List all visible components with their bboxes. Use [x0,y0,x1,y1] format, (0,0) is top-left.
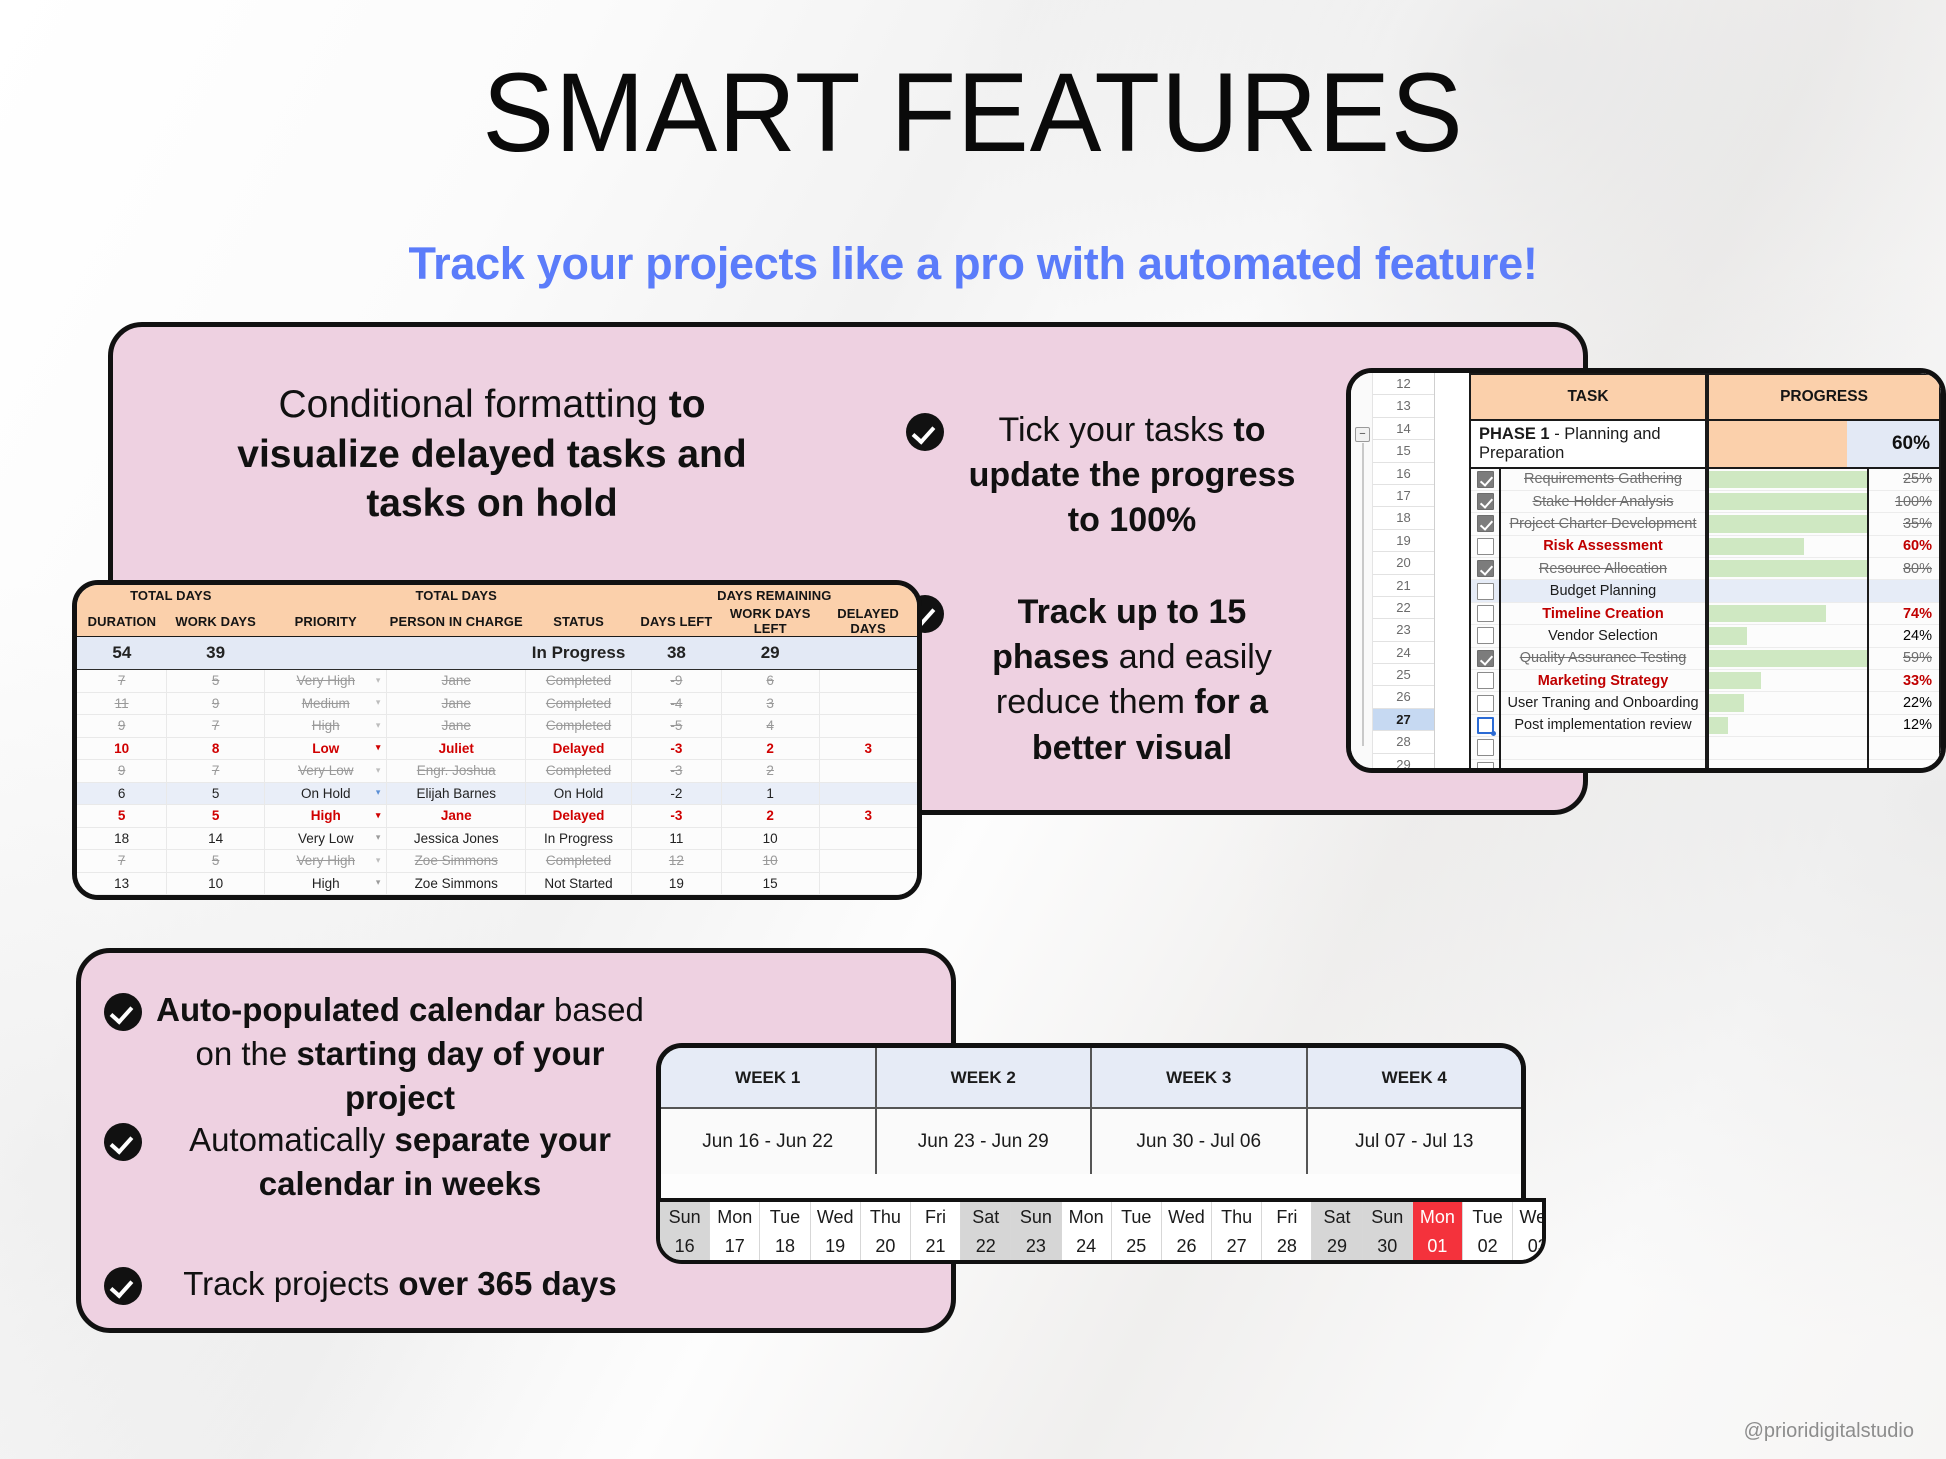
cell-priority[interactable]: On Hold [265,782,387,805]
table-row[interactable]: 97Very LowEngr. JoshuaCompleted-32 [77,760,917,783]
row-number[interactable]: 24 [1373,642,1434,664]
calendar-day[interactable]: Mon17 [710,1202,760,1260]
row-number[interactable]: 27 [1373,709,1434,731]
spacer-column [1435,373,1469,768]
cell-days-left[interactable]: 23 [632,895,722,901]
day-number: 01 [1413,1232,1462,1260]
day-number: 28 [1262,1232,1311,1260]
cell-days-left[interactable]: -3 [632,805,722,828]
task-progress-value[interactable]: 35% [1868,513,1940,535]
task-name[interactable]: Vendor Selection [1501,628,1705,644]
task-progress-value[interactable]: 60% [1868,535,1940,557]
table-row[interactable]: 65On HoldElijah BarnesOn Hold-21 [77,782,917,805]
row-number[interactable]: 22 [1373,597,1434,619]
column-header-cell[interactable]: PERSON IN CHARGE [387,606,526,637]
phase-progress-value: 60% [1892,433,1930,455]
cell-status[interactable]: Not Started [526,872,632,895]
row-number[interactable]: 12 [1373,373,1434,395]
conditional-formatting-text: Conditional formatting to visualize dela… [232,380,752,529]
task-name[interactable]: Project Charter Development [1501,516,1705,532]
task-progress-value[interactable]: 59% [1868,647,1940,669]
task-row[interactable]: User Traning and Onboarding22% [1470,692,1940,714]
cell-priority[interactable]: Very High [265,850,387,873]
task-row[interactable]: Risk Assessment60% [1470,535,1940,557]
task-row[interactable]: Post implementation review12% [1470,714,1940,736]
checkbox-icon[interactable] [1477,627,1494,644]
cell-delayed-days[interactable] [819,827,917,850]
task-duration-spreadsheet[interactable]: TOTAL DAYSTOTAL DAYSDAYS REMAININGDURATI… [72,580,922,900]
cell-delayed-days[interactable] [819,760,917,783]
group-header-cell: TOTAL DAYS [77,585,265,606]
table-row[interactable]: 97HighJaneCompleted-54 [77,715,917,738]
task-name[interactable]: Stake Holder Analysis [1501,494,1705,510]
task-row[interactable]: Stake Holder Analysis100% [1470,490,1940,512]
task-name[interactable]: Resource Allocation [1501,561,1705,577]
calendar-day[interactable]: Fri21 [911,1202,961,1260]
task-checkbox-cell[interactable] [1470,580,1500,602]
task-checkbox-cell[interactable] [1470,647,1500,669]
task-checkbox-cell[interactable] [1470,468,1500,490]
cell-work-days[interactable]: 7 [167,760,265,783]
cell-person[interactable]: Jessica Jones [387,895,526,901]
task-checkbox-cell[interactable] [1470,602,1500,624]
cell-status[interactable]: Not Started [526,895,632,901]
day-name: Tue [1463,1202,1512,1232]
cell-duration[interactable]: 7 [77,670,167,693]
row-number[interactable]: 25 [1373,664,1434,686]
cell-delayed-days[interactable] [819,670,917,693]
day-number: 25 [1112,1232,1161,1260]
cell-person[interactable]: Jessica Jones [387,827,526,850]
calendar-day[interactable]: Tue25 [1112,1202,1162,1260]
task-progress-bar [1709,715,1867,736]
summary-cell: 39 [167,637,265,670]
cell-priority[interactable]: High [265,872,387,895]
phase-label: PHASE 1 - Planning and Preparation [1471,425,1705,463]
cell-delayed-days[interactable] [819,782,917,805]
task-row[interactable]: Project Charter Development35% [1470,513,1940,535]
cell-priority[interactable]: Very Low [265,760,387,783]
check-circle-icon [906,413,944,451]
cell-days-left[interactable]: -5 [632,715,722,738]
cell-duration[interactable]: 9 [77,715,167,738]
task-name[interactable]: Budget Planning [1501,583,1705,599]
column-header-cell[interactable]: PRIORITY [265,606,387,637]
day-name: Thu [1212,1202,1261,1232]
checkbox-icon[interactable] [1477,605,1494,622]
task-row[interactable]: Vendor Selection24% [1470,625,1940,647]
day-number: 23 [1011,1232,1060,1260]
row-number[interactable]: 14 [1373,418,1434,440]
cell-days-left[interactable]: 19 [632,872,722,895]
day-name: Sat [961,1202,1010,1232]
task-row[interactable]: Marketing Strategy33% [1470,670,1940,692]
cell-status[interactable]: Completed [526,850,632,873]
task-progress-value[interactable] [1868,759,1940,773]
table-row[interactable]: 1410MediumJessica JonesNot Started2318 [77,895,917,901]
cell-work-days[interactable]: 5 [167,805,265,828]
cell-status[interactable]: Completed [526,670,632,693]
summary-cell [387,637,526,670]
cell-delayed-days[interactable]: 3 [819,737,917,760]
day-number: 22 [961,1232,1010,1260]
row-number[interactable]: 20 [1373,552,1434,574]
checkbox-icon[interactable] [1477,538,1494,555]
week-header: WEEK 3 [1092,1048,1308,1107]
task-row[interactable]: Timeline Creation74% [1470,602,1940,624]
phase-row[interactable]: PHASE 1 - Planning and Preparation60% [1470,420,1940,468]
task-row[interactable]: Quality Assurance Testing59% [1470,647,1940,669]
cell-duration[interactable]: 18 [77,827,167,850]
checkbox-icon[interactable] [1477,739,1494,756]
task-row[interactable] [1470,759,1940,773]
week-header: WEEK 2 [877,1048,1093,1107]
column-header-row: DURATIONWORK DAYSPRIORITYPERSON IN CHARG… [77,606,917,637]
cell-duration[interactable]: 6 [77,782,167,805]
cell-duration[interactable]: 14 [77,895,167,901]
cell-status[interactable]: Completed [526,692,632,715]
cell-priority[interactable]: High [265,805,387,828]
day-number: 24 [1062,1232,1111,1260]
day-number: 20 [861,1232,910,1260]
bullet-separate-weeks-label: Automatically separate your calendar in … [142,1118,644,1206]
week-range-row: Jun 16 - Jun 22Jun 23 - Jun 29Jun 30 - J… [661,1109,1521,1174]
cell-work-days[interactable]: 10 [167,872,265,895]
task-row[interactable]: Requirements Gathering25% [1470,468,1940,490]
task-progress-value[interactable]: 12% [1868,714,1940,736]
cell-work-days-left[interactable]: 10 [721,850,819,873]
bullet-tick-tasks: Tick your tasks to update the progress t… [906,408,1306,544]
cell-work-days-left[interactable]: 4 [721,715,819,738]
table-row[interactable]: 1310HighZoe SimmonsNot Started1915 [77,872,917,895]
calendar-day[interactable]: Tue02 [1463,1202,1513,1260]
cell-person[interactable]: Jane [387,805,526,828]
row-number[interactable]: 15 [1373,440,1434,462]
task-checkbox-cell[interactable] [1470,558,1500,580]
group-bracket-line [1362,443,1364,746]
calendar-day[interactable]: Sun16 [660,1202,710,1260]
cell-days-left[interactable]: -9 [632,670,722,693]
cell-priority[interactable]: Medium [265,692,387,715]
summary-row: 5439In Progress3829 [77,637,917,670]
task-progress-value[interactable]: 80% [1868,558,1940,580]
page-subtitle: Track your projects like a pro with auto… [0,238,1946,290]
cell-work-days-left[interactable]: 10 [721,827,819,850]
cell-work-days-left[interactable]: 1 [721,782,819,805]
task-progress-value[interactable]: 25% [1868,468,1940,490]
row-number[interactable]: 28 [1373,731,1434,753]
poster-canvas: SMART FEATURES Track your projects like … [0,0,1946,1459]
cell-status[interactable]: Delayed [526,805,632,828]
checkbox-icon[interactable] [1477,695,1494,712]
cell-duration[interactable]: 13 [77,872,167,895]
task-progress-bar [1709,760,1867,773]
summary-cell: 54 [77,637,167,670]
row-number[interactable]: 13 [1373,395,1434,417]
row-number[interactable]: 18 [1373,507,1434,529]
checkbox-icon[interactable] [1477,762,1494,773]
page-title: SMART FEATURES [39,48,1907,177]
phase-progress-bar: 60% [1709,421,1939,467]
cell-days-left[interactable]: -3 [632,760,722,783]
calendar-day-strip[interactable]: Sun16Mon17Tue18Wed19Thu20Fri21Sat22Sun23… [656,1198,1546,1264]
column-header-cell[interactable]: WORK DAYS LEFT [721,606,819,637]
task-progress-bar [1709,558,1867,579]
summary-cell [265,637,387,670]
summary-cell [819,637,917,670]
cell-status[interactable]: On Hold [526,782,632,805]
cell-work-days-left[interactable]: 2 [721,737,819,760]
cell-work-days-left[interactable]: 6 [721,670,819,693]
cell-status[interactable]: In Progress [526,827,632,850]
cell-delayed-days[interactable] [819,850,917,873]
task-name[interactable]: User Traning and Onboarding [1501,695,1705,711]
task-progress-bar [1709,737,1867,758]
row-number[interactable]: 17 [1373,485,1434,507]
cell-status[interactable]: Completed [526,760,632,783]
bullet-separate-weeks: Automatically separate your calendar in … [104,1118,644,1206]
table-row[interactable]: 75Very HighJaneCompleted-96 [77,670,917,693]
day-name: Fri [1262,1202,1311,1232]
day-number: 18 [760,1232,809,1260]
task-progress-value[interactable]: 22% [1868,692,1940,714]
calendar-day[interactable]: Mon24 [1062,1202,1112,1260]
row-number[interactable]: 23 [1373,619,1434,641]
task-name[interactable]: Requirements Gathering [1501,471,1705,487]
task-row[interactable] [1470,737,1940,759]
week-range: Jul 07 - Jul 13 [1308,1109,1522,1174]
cell-status[interactable]: Completed [526,715,632,738]
progress-table[interactable]: TASKPROGRESSPHASE 1 - Planning and Prepa… [1469,373,1941,773]
task-progress-bar [1709,670,1867,691]
cell-work-days[interactable]: 10 [167,895,265,901]
cell-person[interactable]: Jane [387,715,526,738]
task-checkbox-cell[interactable] [1470,513,1500,535]
cell-work-days-left[interactable]: 18 [721,895,819,901]
task-progress-value[interactable]: 24% [1868,625,1940,647]
calendar-day[interactable]: Sun30 [1363,1202,1413,1260]
cell-person[interactable]: Engr. Joshua [387,760,526,783]
check-circle-icon [104,1123,142,1161]
day-number: 21 [911,1232,960,1260]
table-row[interactable]: 108LowJulietDelayed-323 [77,737,917,760]
cell-work-days[interactable]: 5 [167,850,265,873]
task-progress-bar [1709,603,1867,624]
summary-cell: 29 [721,637,819,670]
week-range: Jun 23 - Jun 29 [877,1109,1093,1174]
cell-work-days[interactable]: 14 [167,827,265,850]
cell-work-days-left[interactable]: 3 [721,692,819,715]
day-name: Wed [1513,1202,1546,1232]
header-task[interactable]: TASK [1470,374,1706,420]
task-progress-value[interactable]: 74% [1868,602,1940,624]
collapse-group-icon[interactable]: − [1355,427,1370,442]
column-header-cell[interactable]: WORK DAYS [167,606,265,637]
task-row[interactable]: Resource Allocation80% [1470,558,1940,580]
cell-status[interactable]: Delayed [526,737,632,760]
task-progress-value[interactable] [1868,737,1940,759]
row-number[interactable]: 19 [1373,530,1434,552]
column-header-cell[interactable]: DELAYED DAYS [819,606,917,637]
day-name: Sun [660,1202,709,1232]
row-number[interactable]: 29 [1373,754,1434,773]
row-number[interactable]: 26 [1373,686,1434,708]
calendar-day[interactable]: Sun23 [1011,1202,1061,1260]
table-row[interactable]: 1814Very LowJessica JonesIn Progress1110 [77,827,917,850]
group-header-cell [265,585,387,606]
calendar-day[interactable]: Sat29 [1312,1202,1362,1260]
header-progress[interactable]: PROGRESS [1708,374,1940,420]
day-number: 02 [1463,1232,1512,1260]
cell-days-left[interactable]: -4 [632,692,722,715]
calendar-day[interactable]: Sat22 [961,1202,1011,1260]
checkbox-icon[interactable] [1477,717,1494,734]
task-checkbox-cell[interactable] [1470,737,1500,759]
cell-days-left[interactable]: 12 [632,850,722,873]
cell-priority[interactable]: Very Low [265,827,387,850]
duration-table[interactable]: TOTAL DAYSTOTAL DAYSDAYS REMAININGDURATI… [77,585,917,900]
column-header-cell[interactable]: DURATION [77,606,167,637]
cell-duration[interactable]: 7 [77,850,167,873]
outline-gutter[interactable]: − [1351,373,1373,768]
cell-priority[interactable]: High [265,715,387,738]
check-circle-icon [104,1267,142,1305]
cell-work-days-left[interactable]: 15 [721,872,819,895]
cell-work-days[interactable]: 5 [167,782,265,805]
cell-person[interactable]: Jane [387,670,526,693]
cell-work-days[interactable]: 9 [167,692,265,715]
day-name: Sat [1312,1202,1361,1232]
cell-delayed-days[interactable] [819,715,917,738]
checkbox-icon[interactable] [1477,672,1494,689]
cell-work-days-left[interactable]: 2 [721,760,819,783]
day-number: 03 [1513,1232,1546,1260]
task-name[interactable]: Marketing Strategy [1501,673,1705,689]
week-range: Jun 30 - Jul 06 [1092,1109,1308,1174]
week-range: Jun 16 - Jun 22 [661,1109,877,1174]
cell-work-days[interactable]: 7 [167,715,265,738]
calendar-day[interactable]: Thu27 [1212,1202,1262,1260]
summary-cell: In Progress [526,637,632,670]
calendar-day[interactable]: Mon01 [1413,1202,1463,1260]
cell-priority[interactable]: Very High [265,670,387,693]
row-number[interactable]: 21 [1373,575,1434,597]
column-header-cell[interactable]: DAYS LEFT [632,606,722,637]
week-header: WEEK 1 [661,1048,877,1107]
task-checkbox-cell[interactable] [1470,692,1500,714]
calendar-day[interactable]: Wed03 [1513,1202,1546,1260]
day-name: Tue [1112,1202,1161,1232]
table-row[interactable]: 75Very HighZoe SimmonsCompleted1210 [77,850,917,873]
cell-person[interactable]: Elijah Barnes [387,782,526,805]
table-row[interactable]: 55HighJaneDelayed-323 [77,805,917,828]
cell-duration[interactable]: 5 [77,805,167,828]
cell-work-days[interactable]: 5 [167,670,265,693]
cell-delayed-days[interactable] [819,895,917,901]
calendar-day[interactable]: Wed19 [811,1202,861,1260]
bullet-365-days: Track projects over 365 days [104,1262,644,1306]
task-progress-spreadsheet[interactable]: − 12131415161718192021222324252627282930… [1346,368,1946,773]
checkbox-icon[interactable] [1477,650,1494,667]
calendar-day[interactable]: Wed26 [1162,1202,1212,1260]
task-progress-value[interactable]: 100% [1868,490,1940,512]
checkbox-icon[interactable] [1477,560,1494,577]
calendar-day[interactable]: Thu20 [861,1202,911,1260]
summary-cell: 38 [632,637,722,670]
checkbox-icon[interactable] [1477,515,1494,532]
check-circle-icon [104,993,142,1031]
day-name: Wed [811,1202,860,1232]
calendar-day[interactable]: Tue18 [760,1202,810,1260]
cell-days-left[interactable]: 11 [632,827,722,850]
cell-priority[interactable]: Medium [265,895,387,901]
cell-days-left[interactable]: -3 [632,737,722,760]
cell-person[interactable]: Zoe Simmons [387,850,526,873]
task-checkbox-cell[interactable] [1470,759,1500,773]
cell-work-days-left[interactable]: 2 [721,805,819,828]
cell-delayed-days[interactable]: 3 [819,805,917,828]
task-row[interactable]: Budget Planning [1470,580,1940,602]
cell-person[interactable]: Juliet [387,737,526,760]
task-progress-bar [1709,648,1867,669]
task-checkbox-cell[interactable] [1470,490,1500,512]
row-number-column[interactable]: 12131415161718192021222324252627282930 [1373,373,1435,768]
day-number: 17 [710,1232,759,1260]
day-name: Mon [1062,1202,1111,1232]
task-checkbox-cell[interactable] [1470,714,1500,736]
checkbox-icon[interactable] [1477,583,1494,600]
task-checkbox-cell[interactable] [1470,625,1500,647]
group-header-row: TOTAL DAYSTOTAL DAYSDAYS REMAINING [77,585,917,606]
task-progress-value[interactable]: 33% [1868,670,1940,692]
bullet-auto-calendar-label: Auto-populated calendar based on the sta… [142,988,644,1120]
cell-person[interactable]: Jane [387,692,526,715]
task-name[interactable]: Timeline Creation [1501,606,1705,622]
table-row[interactable]: 119MediumJaneCompleted-43 [77,692,917,715]
cell-days-left[interactable]: -2 [632,782,722,805]
task-progress-value[interactable] [1868,580,1940,602]
task-name[interactable]: Risk Assessment [1501,538,1705,554]
column-header-cell[interactable]: STATUS [526,606,632,637]
progress-grid[interactable]: TASKPROGRESSPHASE 1 - Planning and Prepa… [1469,373,1941,768]
day-number: 26 [1162,1232,1211,1260]
cell-duration[interactable]: 9 [77,760,167,783]
day-number: 19 [811,1232,860,1260]
cell-delayed-days[interactable] [819,692,917,715]
cell-delayed-days[interactable] [819,872,917,895]
cell-priority[interactable]: Low [265,737,387,760]
bullet-track-phases: Track up to 15 phases and easily reduce … [906,590,1306,771]
cell-duration[interactable]: 11 [77,692,167,715]
task-checkbox-cell[interactable] [1470,535,1500,557]
cell-duration[interactable]: 10 [77,737,167,760]
task-name[interactable]: Post implementation review [1501,717,1705,733]
cell-work-days[interactable]: 8 [167,737,265,760]
day-number: 27 [1212,1232,1261,1260]
checkbox-icon[interactable] [1477,493,1494,510]
task-checkbox-cell[interactable] [1470,670,1500,692]
task-progress-bar [1709,513,1867,534]
checkbox-icon[interactable] [1477,471,1494,488]
week-header: WEEK 4 [1308,1048,1522,1107]
day-number: 16 [660,1232,709,1260]
cell-person[interactable]: Zoe Simmons [387,872,526,895]
task-name[interactable]: Quality Assurance Testing [1501,650,1705,666]
task-progress-bar [1709,491,1867,512]
calendar-day[interactable]: Fri28 [1262,1202,1312,1260]
row-number[interactable]: 16 [1373,463,1434,485]
task-progress-bar [1709,536,1867,557]
